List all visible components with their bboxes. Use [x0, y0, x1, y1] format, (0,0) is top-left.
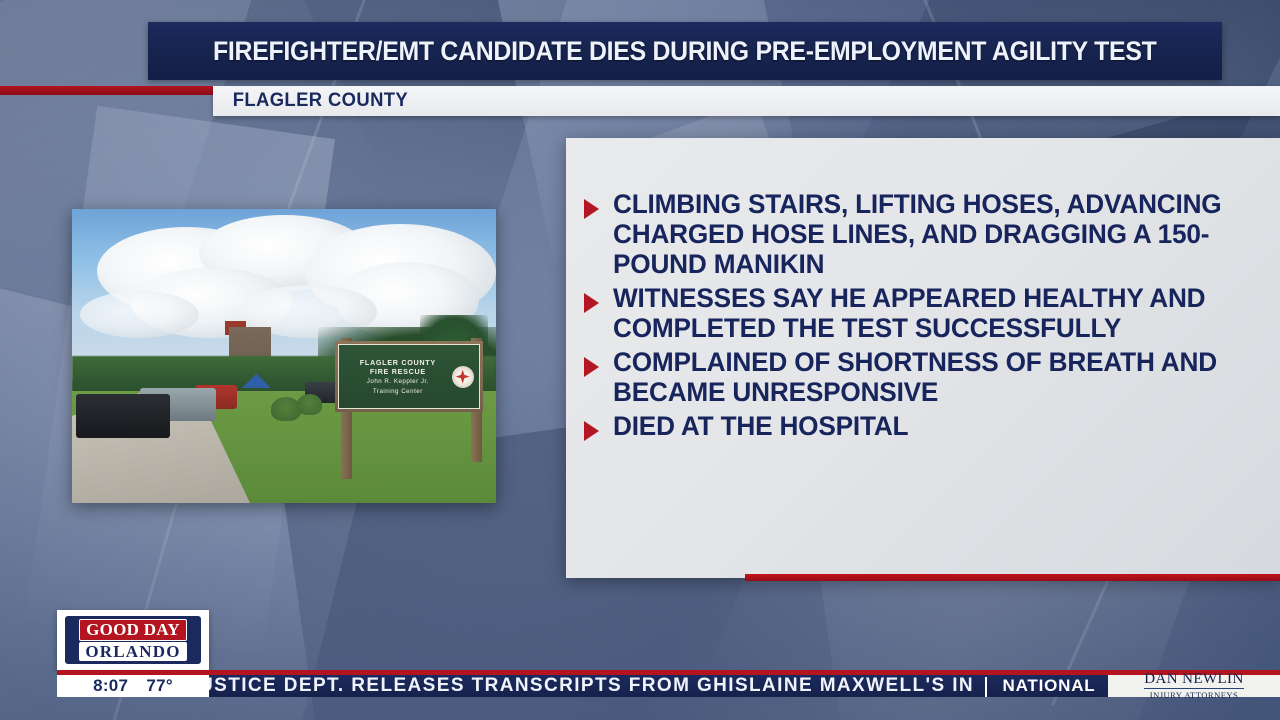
photo-bush: [297, 394, 322, 415]
bullet-item: CLIMBING STAIRS, LIFTING HOSES, ADVANCIN…: [584, 190, 1264, 280]
location-text: FLAGLER COUNTY: [233, 90, 408, 112]
headline-text: FIREFIGHTER/EMT CANDIDATE DIES DURING PR…: [213, 36, 1156, 67]
photo-vehicle: [76, 394, 169, 438]
news-ticker: USTICE DEPT. RELEASES TRANSCRIPTS FROM G…: [209, 670, 990, 697]
triangle-right-icon: [584, 293, 599, 313]
station-logo-line-1: GOOD DAY: [79, 619, 187, 641]
triangle-right-icon: [584, 357, 599, 377]
bullet-text: CLIMBING STAIRS, LIFTING HOSES, ADVANCIN…: [613, 190, 1244, 280]
bullet-panel: CLIMBING STAIRS, LIFTING HOSES, ADVANCIN…: [566, 138, 1280, 578]
clock-text: 8:07: [93, 676, 128, 696]
headline-bar: FIREFIGHTER/EMT CANDIDATE DIES DURING PR…: [148, 22, 1222, 80]
bullet-item: DIED AT THE HOSPITAL: [584, 412, 1264, 442]
fire-department-maltese-cross-icon: [452, 366, 474, 388]
photo-sign-line-2: FIRE RESCUE: [370, 367, 426, 376]
location-bar: FLAGLER COUNTY: [213, 86, 1280, 116]
bullet-item: COMPLAINED OF SHORTNESS OF BREATH AND BE…: [584, 348, 1264, 408]
photo-sign-line-4: Training Center: [373, 388, 423, 396]
news-photo: FLAGLER COUNTY FIRE RESCUE John R. Keppl…: [72, 209, 496, 503]
station-logo: GOOD DAY ORLANDO: [57, 610, 209, 670]
ticker-caret: [985, 677, 987, 697]
bullet-item: WITNESSES SAY HE APPEARED HEALTHY AND CO…: [584, 284, 1264, 344]
panel-red-rule: [745, 574, 1280, 581]
photo-sign-line-1: FLAGLER COUNTY: [360, 358, 436, 367]
sponsor-logo: DAN NEWLIN INJURY ATTORNEYS: [1108, 670, 1280, 697]
triangle-right-icon: [584, 199, 599, 219]
ticker-text: USTICE DEPT. RELEASES TRANSCRIPTS FROM G…: [209, 675, 974, 697]
headline-red-rule: [0, 86, 213, 95]
station-logo-inner: GOOD DAY ORLANDO: [65, 616, 201, 664]
ticker-category-text: NATIONAL: [1003, 676, 1096, 696]
bullet-text: COMPLAINED OF SHORTNESS OF BREATH AND BE…: [613, 348, 1244, 408]
ticker-category: NATIONAL: [990, 670, 1108, 697]
sponsor-tagline: INJURY ATTORNEYS: [1150, 691, 1239, 700]
bullet-text: DIED AT THE HOSPITAL: [613, 412, 908, 442]
triangle-right-icon: [584, 421, 599, 441]
sponsor-name: DAN NEWLIN: [1144, 672, 1243, 689]
temperature-text: 77°: [146, 676, 173, 696]
photo-sign-line-3: John R. Keppler Jr.: [367, 378, 429, 386]
station-logo-line-2: ORLANDO: [79, 642, 186, 662]
time-temperature-box: 8:07 77°: [57, 670, 209, 697]
photo-sign-board: FLAGLER COUNTY FIRE RESCUE John R. Keppl…: [335, 341, 483, 412]
photo-sign-face: FLAGLER COUNTY FIRE RESCUE John R. Keppl…: [338, 344, 480, 409]
bullet-text: WITNESSES SAY HE APPEARED HEALTHY AND CO…: [613, 284, 1244, 344]
